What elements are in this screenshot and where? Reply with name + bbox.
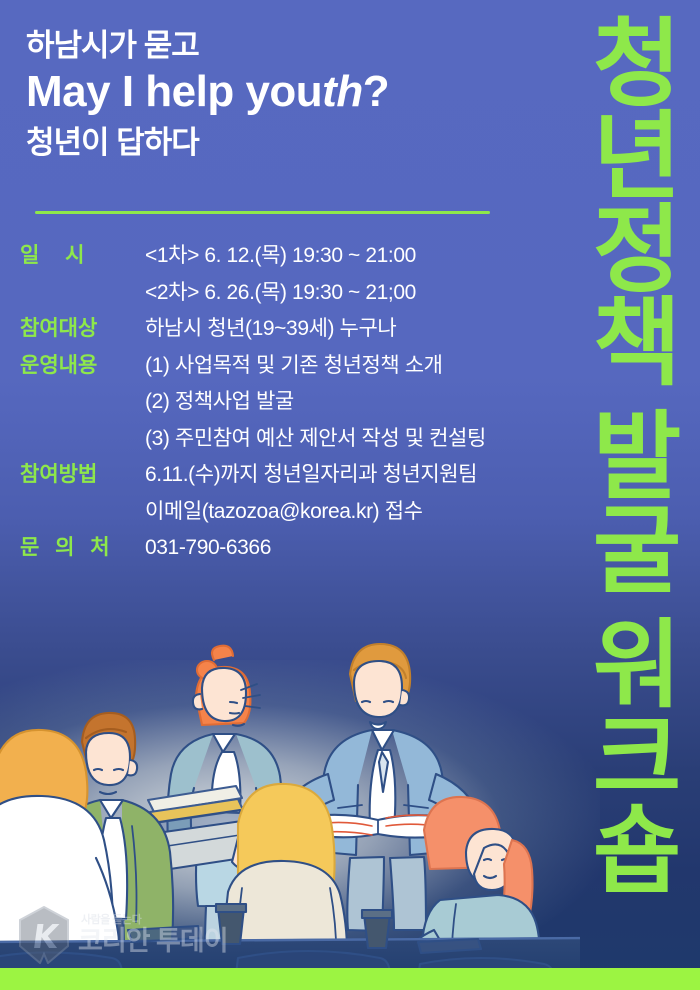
header-line-english: May I help youth? [26, 66, 566, 118]
poster-header: 하남시가 묻고 May I help youth? 청년이 답하다 [26, 28, 566, 161]
info-row: (2) 정책사업 발굴 [20, 386, 580, 419]
vertical-title-char: 숍 [593, 805, 681, 898]
info-row-label: 문 의 처 [20, 532, 145, 565]
vertical-title-char: 청 [593, 18, 681, 111]
info-row: 참여방법6.11.(수)까지 청년일자리과 청년지원팀 [20, 459, 580, 492]
vertical-title: 청년정책발굴워크숍 [582, 18, 692, 898]
poster-root: 하남시가 묻고 May I help youth? 청년이 답하다 일 시<1차… [0, 0, 700, 990]
vertical-title-char: 크 [593, 712, 681, 805]
info-row: 운영내용(1) 사업목적 및 기존 청년정책 소개 [20, 350, 580, 383]
watermark-name: 코리안 투데이 [78, 928, 228, 955]
info-row-label: 일 시 [20, 240, 145, 273]
header-line-korean-top: 하남시가 묻고 [26, 28, 566, 64]
vertical-title-char: 굴 [593, 505, 681, 598]
info-row: (3) 주민참여 예산 제안서 작성 및 컨설팅 [20, 423, 580, 456]
bottom-accent-bar [0, 968, 700, 990]
info-row: 문 의 처031-790-6366 [20, 532, 580, 565]
info-row-value: 하남시 청년(19~39세) 누구나 [145, 313, 396, 346]
header-english-end: ? [363, 67, 389, 116]
info-row-label: 운영내용 [20, 350, 145, 383]
vertical-title-char: 정 [593, 204, 681, 297]
header-divider [35, 211, 490, 214]
k-hexagon-logo-icon [18, 906, 70, 964]
header-english-main: May I help you [26, 67, 322, 116]
info-list: 일 시<1차> 6. 12.(목) 19:30 ~ 21:00 <2차> 6. … [20, 240, 580, 569]
vertical-title-char: 워 [593, 619, 681, 712]
info-row: 이메일(tazozoa@korea.kr) 접수 [20, 496, 580, 529]
info-row-value: 031-790-6366 [145, 532, 271, 565]
vertical-title-char: 년 [593, 111, 681, 204]
watermark-tagline: 사람을 듣는다 [81, 915, 228, 926]
vertical-title-char: 발 [593, 411, 681, 504]
info-row-value: 6.11.(수)까지 청년일자리과 청년지원팀 [145, 459, 477, 492]
info-row-value: (3) 주민참여 예산 제안서 작성 및 컨설팅 [145, 423, 486, 456]
info-row-value: <2차> 6. 26.(목) 19:30 ~ 21;00 [145, 277, 416, 310]
watermark-logo: 사람을 듣는다 코리안 투데이 [18, 906, 228, 964]
vertical-title-char: 책 [593, 297, 681, 390]
info-row-value: (2) 정책사업 발굴 [145, 386, 294, 419]
info-row: 참여대상하남시 청년(19~39세) 누구나 [20, 313, 580, 346]
info-row-label: 참여방법 [20, 459, 145, 492]
header-line-korean-bottom: 청년이 답하다 [26, 124, 566, 161]
info-row-value: <1차> 6. 12.(목) 19:30 ~ 21:00 [145, 240, 416, 273]
info-row-value: (1) 사업목적 및 기존 청년정책 소개 [145, 350, 443, 383]
info-row-value: 이메일(tazozoa@korea.kr) 접수 [145, 496, 423, 529]
header-english-italic: th [322, 67, 363, 116]
info-row-label: 참여대상 [20, 313, 145, 346]
info-row: <2차> 6. 26.(목) 19:30 ~ 21;00 [20, 277, 580, 310]
info-row: 일 시<1차> 6. 12.(목) 19:30 ~ 21:00 [20, 240, 580, 273]
